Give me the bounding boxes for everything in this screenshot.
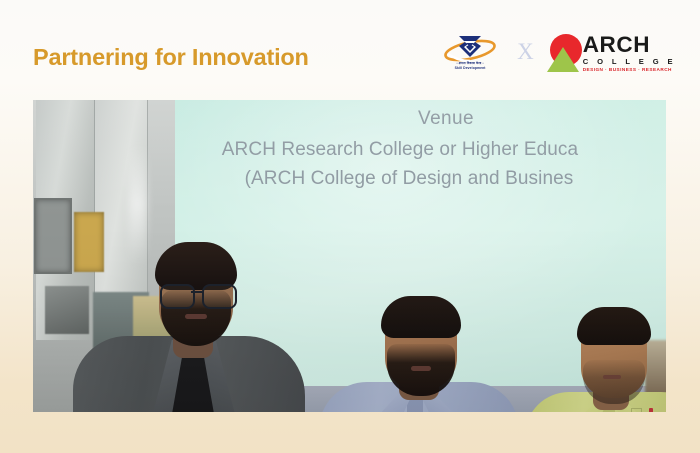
person-right-pocket-pen: [649, 408, 653, 412]
person-left-mouth: [185, 314, 207, 319]
person-middle-mouth: [411, 366, 431, 371]
partner-logo-subtitle: Skill Development: [434, 66, 506, 70]
person-right-pocket: [631, 408, 642, 412]
logo-lockup: • क्षमता विकास केन्द्र • Skill Developme…: [434, 28, 676, 78]
arch-tagline: DESIGN · BUSINESS · RESEARCH: [583, 67, 676, 72]
glasses-lens-right: [202, 284, 237, 309]
glasses-bridge: [191, 291, 202, 293]
arch-name: ARCH: [583, 34, 676, 56]
photo-framed-item-1: [34, 198, 72, 274]
logo-separator-x: X: [515, 40, 536, 67]
person-right-hair: [577, 307, 651, 345]
person-left-hair: [155, 242, 237, 290]
person-middle: [319, 300, 519, 412]
arch-college-logo: ARCH C O L L E G E DESIGN · BUSINESS · R…: [545, 31, 676, 75]
slide-canvas: Partnering for Innovation • क्षमता विकास…: [0, 0, 700, 453]
page-title: Partnering for Innovation: [33, 44, 309, 71]
partner-logo-text: • क्षमता विकास केन्द्र •: [434, 61, 506, 65]
arch-subtitle: C O L L E G E: [583, 57, 676, 66]
person-right-mouth: [603, 375, 621, 379]
arch-emblem-icon: [545, 32, 587, 74]
person-right: [525, 312, 666, 412]
person-left: [73, 240, 305, 412]
arch-wordmark: ARCH C O L L E G E DESIGN · BUSINESS · R…: [583, 34, 676, 72]
event-photo: Venue ARCH Research College or Higher Ed…: [33, 100, 666, 412]
person-left-glasses-icon: [157, 284, 237, 306]
person-middle-hair: [381, 296, 461, 338]
glasses-lens-left: [160, 284, 195, 309]
slide-header: Partnering for Innovation • क्षमता विकास…: [0, 0, 700, 100]
partner-emblem-icon: [434, 32, 506, 62]
partner-logo: • क्षमता विकास केन्द्र • Skill Developme…: [434, 32, 506, 74]
